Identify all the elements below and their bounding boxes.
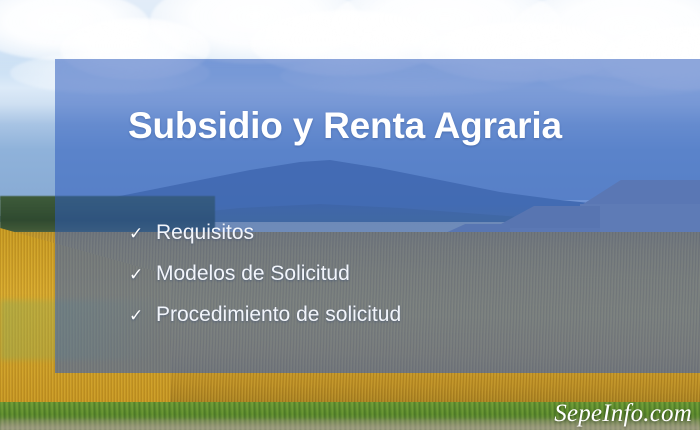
feature-list: ✓ Requisitos ✓ Modelos de Solicitud ✓ Pr… xyxy=(129,222,649,345)
page-title: Subsidio y Renta Agraria xyxy=(128,107,648,146)
check-icon: ✓ xyxy=(129,266,143,283)
list-item-label: Procedimiento de solicitud xyxy=(156,304,401,325)
list-item: ✓ Modelos de Solicitud xyxy=(129,263,649,284)
list-item-label: Requisitos xyxy=(156,222,254,243)
check-icon: ✓ xyxy=(129,225,143,242)
banner-image: Subsidio y Renta Agraria ✓ Requisitos ✓ … xyxy=(0,0,700,430)
check-icon: ✓ xyxy=(129,307,143,324)
list-item: ✓ Requisitos xyxy=(129,222,649,243)
banner-content: Subsidio y Renta Agraria ✓ Requisitos ✓ … xyxy=(55,59,700,373)
site-watermark: SepeInfo.com xyxy=(554,400,692,428)
list-item-label: Modelos de Solicitud xyxy=(156,263,350,284)
list-item: ✓ Procedimiento de solicitud xyxy=(129,304,649,325)
